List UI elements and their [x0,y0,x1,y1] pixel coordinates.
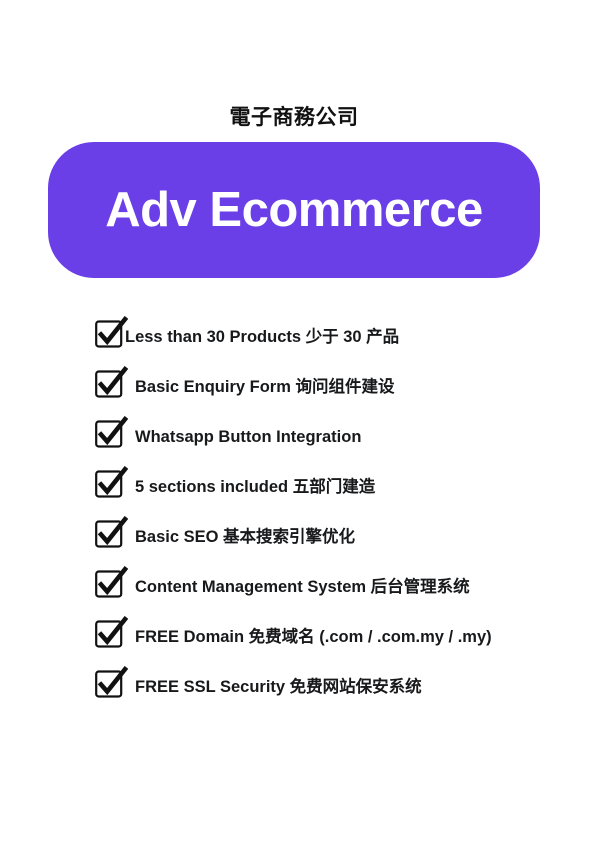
checkbox-checked-icon [94,316,128,350]
checkbox-checked-icon [94,466,128,500]
pricing-plan-card: 電子商務公司 Adv Ecommerce Less than 30 Produc… [0,0,600,849]
feature-item: Content Management System 后台管理系统 [0,562,600,612]
feature-label: 5 sections included 五部门建造 [135,477,375,498]
feature-list: Less than 30 Products 少于 30 产品 Basic Enq… [0,312,600,712]
checkbox-checked-icon [94,666,128,700]
feature-label: FREE Domain 免费域名 (.com / .com.my / .my) [135,627,492,648]
feature-label: Whatsapp Button Integration [135,427,361,448]
feature-label: Content Management System 后台管理系统 [135,577,470,598]
feature-item: Basic Enquiry Form 询问组件建设 [0,362,600,412]
feature-item: FREE SSL Security 免费网站保安系统 [0,662,600,712]
checkbox-checked-icon [94,616,128,650]
feature-label: Basic Enquiry Form 询问组件建设 [135,377,394,398]
feature-label: Less than 30 Products 少于 30 产品 [125,327,399,348]
feature-label: FREE SSL Security 免费网站保安系统 [135,677,422,698]
feature-item: Whatsapp Button Integration [0,412,600,462]
feature-item: FREE Domain 免费域名 (.com / .com.my / .my) [0,612,600,662]
checkbox-checked-icon [94,366,128,400]
checkbox-checked-icon [94,416,128,450]
feature-item: Basic SEO 基本搜索引擎优化 [0,512,600,562]
checkbox-checked-icon [94,516,128,550]
plan-name-title: Adv Ecommerce [105,186,483,235]
feature-label: Basic SEO 基本搜索引擎优化 [135,527,355,548]
checkbox-checked-icon [94,566,128,600]
feature-item: 5 sections included 五部门建造 [0,462,600,512]
company-heading: 電子商務公司 [48,105,540,130]
feature-item: Less than 30 Products 少于 30 产品 [0,312,600,362]
plan-name-banner: Adv Ecommerce [48,142,540,278]
